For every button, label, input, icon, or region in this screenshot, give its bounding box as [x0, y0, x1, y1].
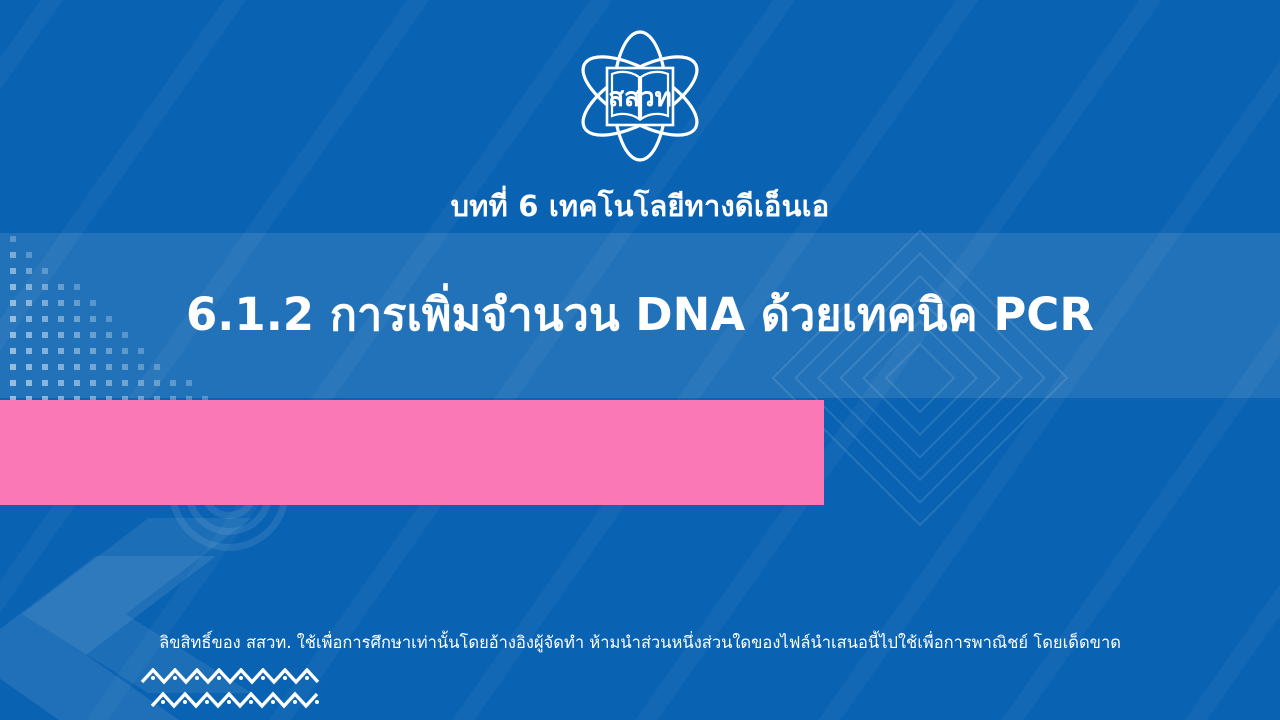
dot-matrix-dot	[26, 444, 32, 450]
dot-matrix-dot	[202, 444, 208, 450]
dot-matrix-dot	[90, 412, 96, 418]
dot-matrix-dot	[90, 364, 96, 370]
dot-matrix-dot	[90, 396, 96, 402]
dot-matrix-dot	[138, 460, 144, 466]
page-title: 6.1.2 การเพิ่มจำนวน DNA ด้วยเทคนิค PCR	[0, 288, 1280, 342]
dot-matrix-dot	[10, 444, 16, 450]
dot-matrix-dot	[10, 252, 16, 258]
dot-matrix-dot	[26, 364, 32, 370]
dot-matrix-dot	[122, 444, 128, 450]
dot-matrix-dot	[74, 412, 80, 418]
dot-matrix-dot	[74, 444, 80, 450]
dot-matrix-dot	[10, 348, 16, 354]
dot-matrix-dot	[218, 428, 224, 434]
dot-matrix-dot	[138, 428, 144, 434]
dot-matrix-dot	[42, 364, 48, 370]
dot-matrix-dot	[42, 348, 48, 354]
dot-matrix-dot	[234, 444, 240, 450]
dot-matrix-dot	[106, 460, 112, 466]
dot-matrix-dot	[170, 460, 176, 466]
dot-matrix-dot	[58, 460, 64, 466]
dot-matrix-dot	[26, 252, 32, 258]
concentric-circles-decoration	[168, 430, 290, 552]
dot-matrix-dot	[10, 460, 16, 466]
dot-matrix-dot	[106, 364, 112, 370]
dot-matrix-dot	[42, 412, 48, 418]
dot-matrix-dot	[122, 412, 128, 418]
dot-matrix-dot	[202, 396, 208, 402]
dot-matrix-dot	[186, 380, 192, 386]
dot-matrix-dot	[106, 396, 112, 402]
dot-matrix-dot	[74, 364, 80, 370]
dot-matrix-dot	[26, 460, 32, 466]
dot-matrix-dot	[138, 412, 144, 418]
dot-matrix-dot	[202, 428, 208, 434]
dot-matrix-dot	[186, 396, 192, 402]
dot-matrix-dot	[170, 396, 176, 402]
dot-matrix-dot	[10, 268, 16, 274]
dot-matrix-decoration	[0, 236, 314, 471]
dot-matrix-dot	[58, 380, 64, 386]
dot-matrix-dot	[74, 460, 80, 466]
dot-matrix-dot	[122, 460, 128, 466]
dot-matrix-dot	[58, 396, 64, 402]
dot-matrix-dot	[250, 444, 256, 450]
dot-matrix-dot	[154, 364, 160, 370]
dot-matrix-dot	[186, 460, 192, 466]
dot-matrix-dot	[154, 444, 160, 450]
dot-matrix-dot	[90, 460, 96, 466]
dot-matrix-dot	[10, 380, 16, 386]
dot-matrix-dot	[266, 460, 272, 466]
dot-matrix-dot	[170, 428, 176, 434]
concentric-diamonds-decoration	[770, 228, 1070, 528]
dot-matrix-dot	[234, 460, 240, 466]
dot-matrix-dot	[26, 412, 32, 418]
dot-matrix-dot	[154, 380, 160, 386]
dot-matrix-dot	[154, 460, 160, 466]
dot-matrix-dot	[186, 444, 192, 450]
dot-matrix-dot	[170, 412, 176, 418]
dot-matrix-dot	[26, 428, 32, 434]
dot-matrix-dot	[186, 412, 192, 418]
dot-matrix-dot	[74, 396, 80, 402]
dot-matrix-dot	[154, 412, 160, 418]
dot-matrix-dot	[154, 396, 160, 402]
ring-outer	[169, 431, 289, 551]
dot-matrix-dot	[42, 460, 48, 466]
dot-matrix-dot	[186, 428, 192, 434]
dot-matrix-dot	[58, 412, 64, 418]
presentation-slide: สสวท บทที่ 6 เทคโนโลยีทางดีเอ็นเอ 6.1.2 …	[0, 0, 1280, 720]
chevron-arrow-decoration-small	[22, 518, 252, 693]
accent-bar	[0, 400, 824, 505]
dot-matrix-dot	[26, 380, 32, 386]
dot-matrix-dot	[74, 348, 80, 354]
dot-matrix-dot	[234, 428, 240, 434]
dot-matrix-dot	[90, 380, 96, 386]
dot-matrix-dot	[74, 380, 80, 386]
dot-matrix-dot	[106, 348, 112, 354]
dot-matrix-dot	[154, 428, 160, 434]
dot-matrix-dot	[202, 460, 208, 466]
dot-matrix-dot	[218, 460, 224, 466]
dot-matrix-dot	[58, 348, 64, 354]
diamond-1	[772, 230, 1069, 527]
dot-matrix-dot	[138, 396, 144, 402]
dot-matrix-dot	[106, 444, 112, 450]
dot-matrix-dot	[170, 380, 176, 386]
dot-matrix-dot	[42, 428, 48, 434]
dot-matrix-dot	[138, 364, 144, 370]
dot-matrix-dot	[26, 396, 32, 402]
ring-mid	[185, 447, 273, 535]
dot-matrix-dot	[138, 348, 144, 354]
dot-matrix-dot	[58, 444, 64, 450]
dot-matrix-dot	[218, 444, 224, 450]
dot-matrix-dot	[122, 396, 128, 402]
dot-matrix-dot	[10, 364, 16, 370]
dot-matrix-dot	[42, 268, 48, 274]
dot-matrix-dot	[26, 268, 32, 274]
ring-core	[215, 477, 243, 505]
dot-matrix-dot	[10, 428, 16, 434]
logo-acronym-text: สสวท	[608, 83, 671, 113]
dot-matrix-dot	[122, 428, 128, 434]
dot-matrix-dot	[202, 412, 208, 418]
dot-matrix-dot	[106, 380, 112, 386]
dot-matrix-dot	[74, 428, 80, 434]
dot-matrix-dot	[106, 428, 112, 434]
diamond-6	[885, 343, 956, 414]
dot-matrix-dot	[138, 380, 144, 386]
dot-matrix-dot	[218, 412, 224, 418]
dot-matrix-dot	[10, 236, 16, 242]
ring-inner	[201, 463, 257, 519]
dot-matrix-dot	[26, 348, 32, 354]
dot-matrix-dot	[10, 396, 16, 402]
chapter-title: บทที่ 6 เทคโนโลยีทางดีเอ็นเอ	[0, 188, 1280, 224]
diagonal-streaks-decoration	[0, 0, 1280, 720]
dot-matrix-dot	[58, 428, 64, 434]
dot-matrix-dot	[138, 444, 144, 450]
dot-matrix-dot	[170, 444, 176, 450]
dot-matrix-dot	[42, 444, 48, 450]
dot-matrix-dot	[122, 364, 128, 370]
zigzag-ornament	[140, 668, 320, 712]
dot-matrix-dot	[10, 412, 16, 418]
dot-matrix-dot	[90, 348, 96, 354]
dot-matrix-dot	[250, 460, 256, 466]
dot-matrix-dot	[122, 380, 128, 386]
dot-matrix-dot	[106, 412, 112, 418]
dot-matrix-dot	[122, 348, 128, 354]
dot-matrix-dot	[90, 428, 96, 434]
ipst-atom-book-logo: สสวท	[568, 22, 712, 170]
copyright-footer: ลิขสิทธิ์ของ สสวท. ใช้เพื่อการศึกษาเท่าน…	[0, 632, 1280, 653]
dot-matrix-dot	[58, 364, 64, 370]
dot-matrix-dot	[90, 444, 96, 450]
dot-matrix-dot	[42, 380, 48, 386]
dot-matrix-dot	[42, 396, 48, 402]
